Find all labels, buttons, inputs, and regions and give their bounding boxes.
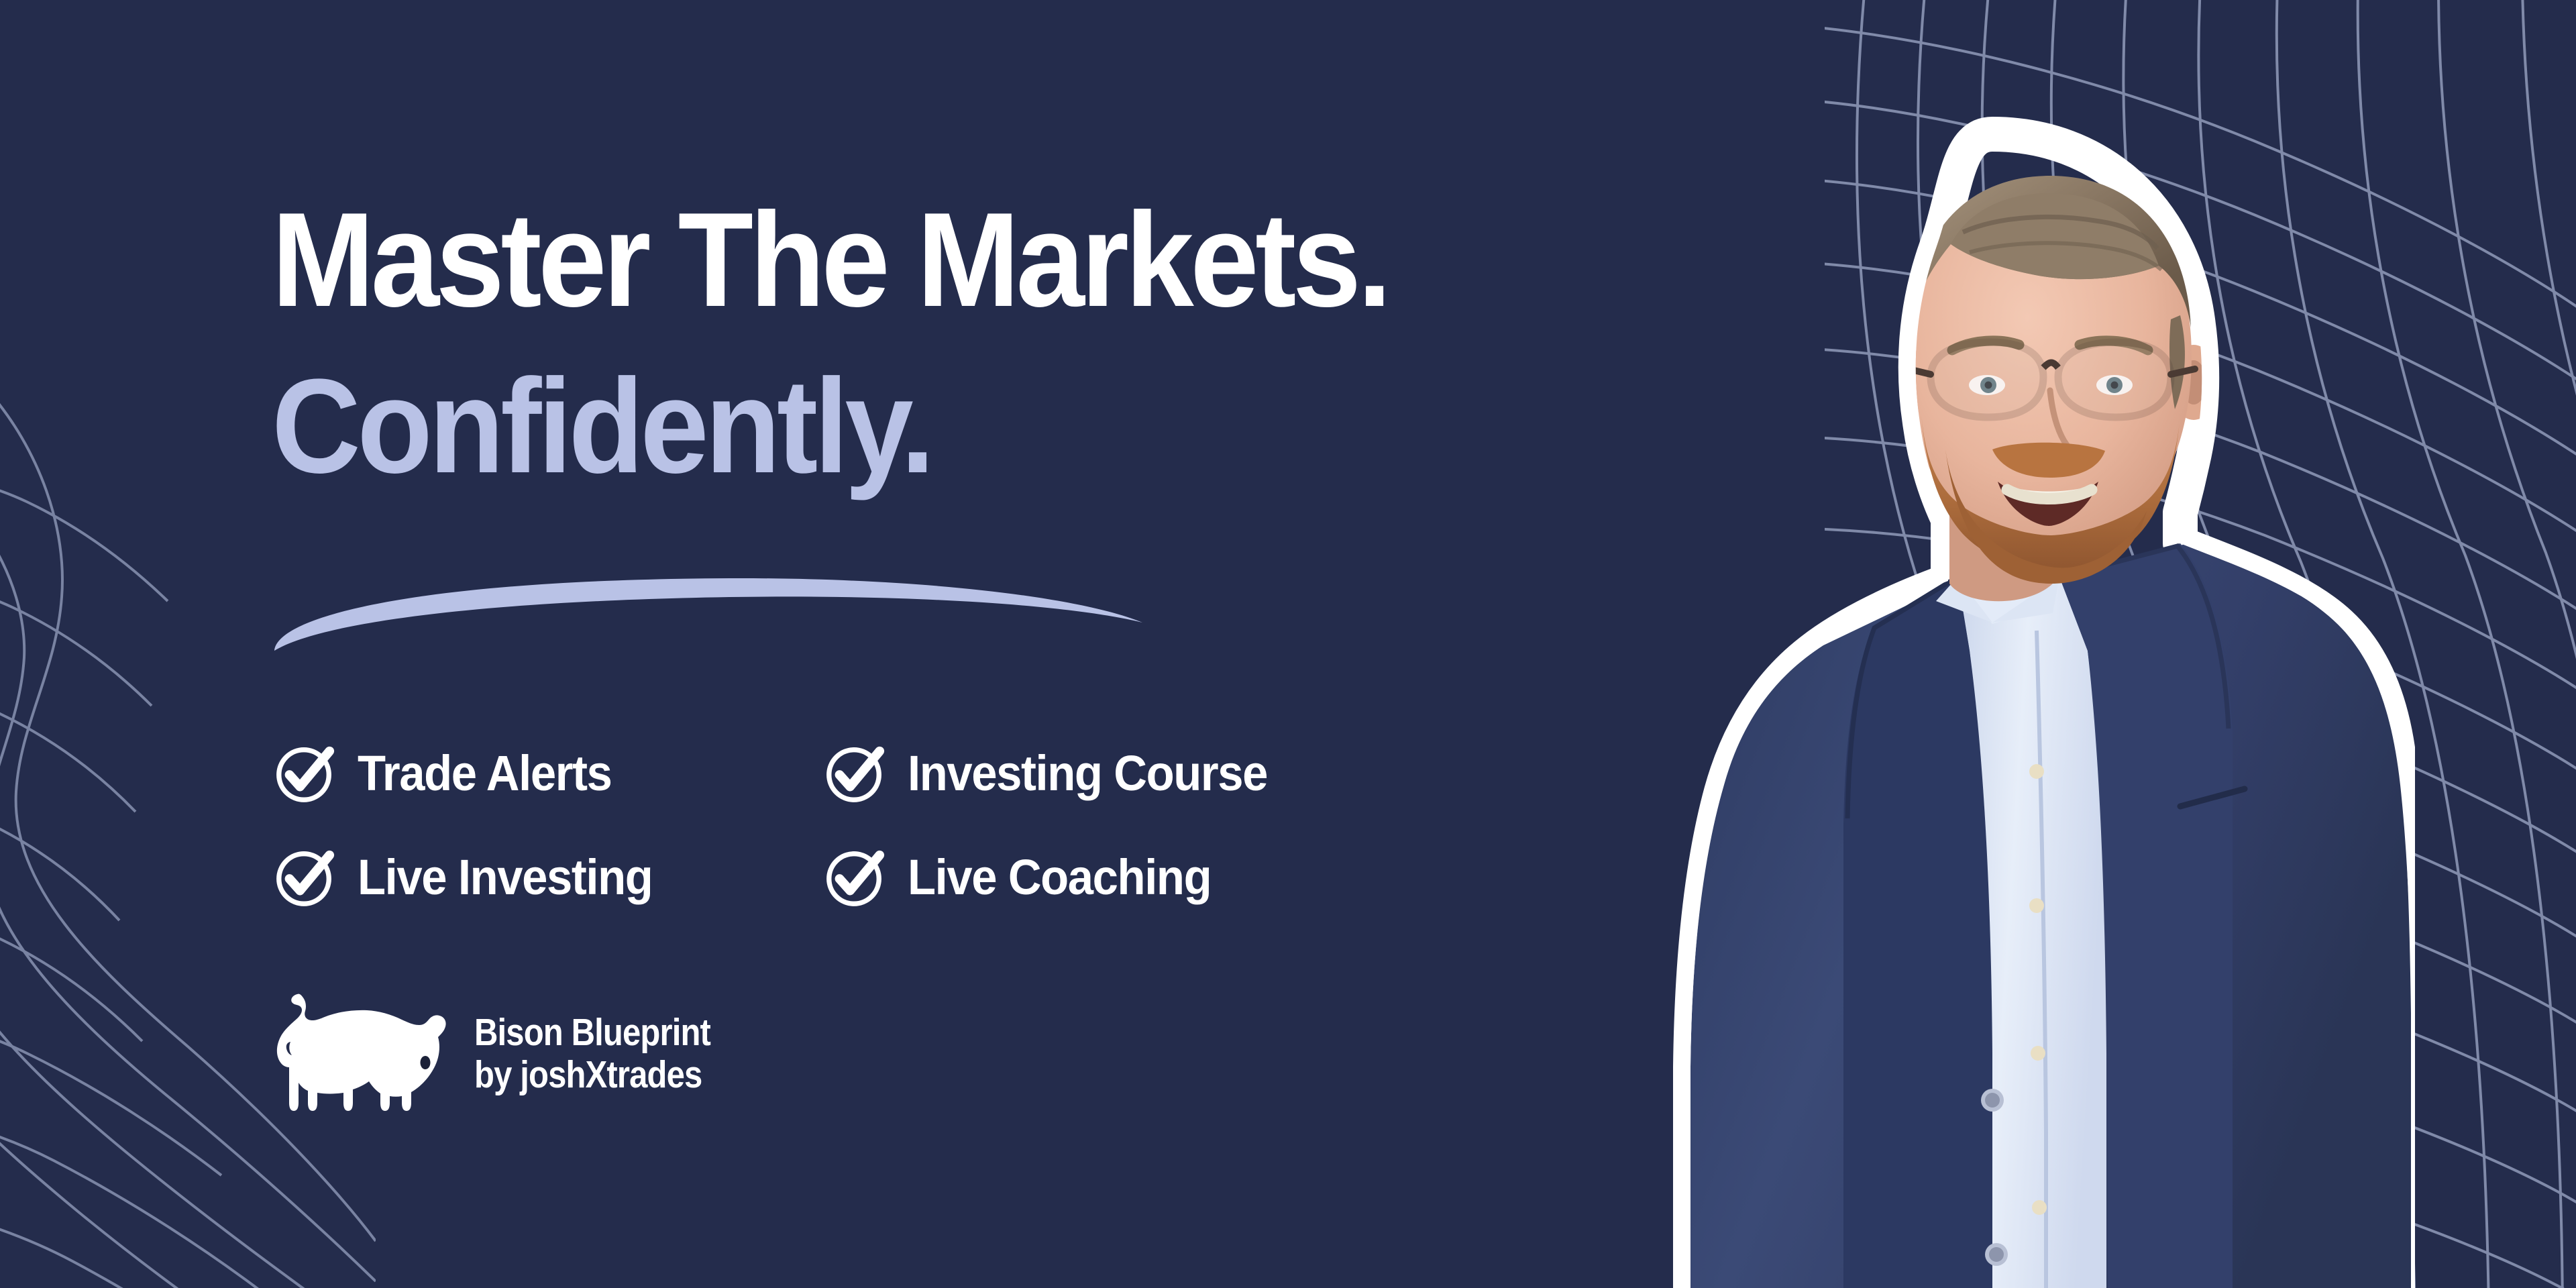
swoosh-underline-icon bbox=[260, 576, 1159, 656]
brand-byline: by joshXtrades bbox=[474, 1056, 710, 1094]
bison-icon bbox=[272, 985, 451, 1122]
presenter-portrait bbox=[1590, 114, 2415, 1288]
portrait-body bbox=[1690, 176, 2412, 1288]
feature-item-trade-alerts[interactable]: Trade Alerts bbox=[272, 741, 822, 806]
feature-item-live-coaching[interactable]: Live Coaching bbox=[822, 845, 1399, 910]
check-circle-icon bbox=[822, 845, 888, 910]
brand-logo-text: Bison Blueprint by joshXtrades bbox=[474, 1014, 749, 1094]
headline-primary: Master The Markets. bbox=[272, 195, 1537, 326]
feature-list: Trade Alerts Investing Course Live Inves… bbox=[272, 721, 1399, 929]
feature-label: Investing Course bbox=[908, 745, 1267, 802]
headline-block: Master The Markets. Confidently. bbox=[272, 195, 1647, 492]
feature-label: Live Coaching bbox=[908, 849, 1211, 906]
feature-label: Live Investing bbox=[358, 849, 652, 906]
brand-name: Bison Blueprint bbox=[474, 1014, 710, 1052]
headline-accent: Confidently. bbox=[272, 361, 1537, 492]
promo-banner: Master The Markets. Confidently. Trade A… bbox=[0, 0, 2576, 1288]
feature-item-investing-course[interactable]: Investing Course bbox=[822, 741, 1399, 806]
feature-item-live-investing[interactable]: Live Investing bbox=[272, 845, 822, 910]
check-circle-icon bbox=[822, 741, 888, 806]
feature-label: Trade Alerts bbox=[358, 745, 612, 802]
check-circle-icon bbox=[272, 741, 337, 806]
check-circle-icon bbox=[272, 845, 337, 910]
content-column: Master The Markets. Confidently. Trade A… bbox=[272, 0, 1680, 1288]
brand-logo-lockup[interactable]: Bison Blueprint by joshXtrades bbox=[272, 985, 749, 1122]
